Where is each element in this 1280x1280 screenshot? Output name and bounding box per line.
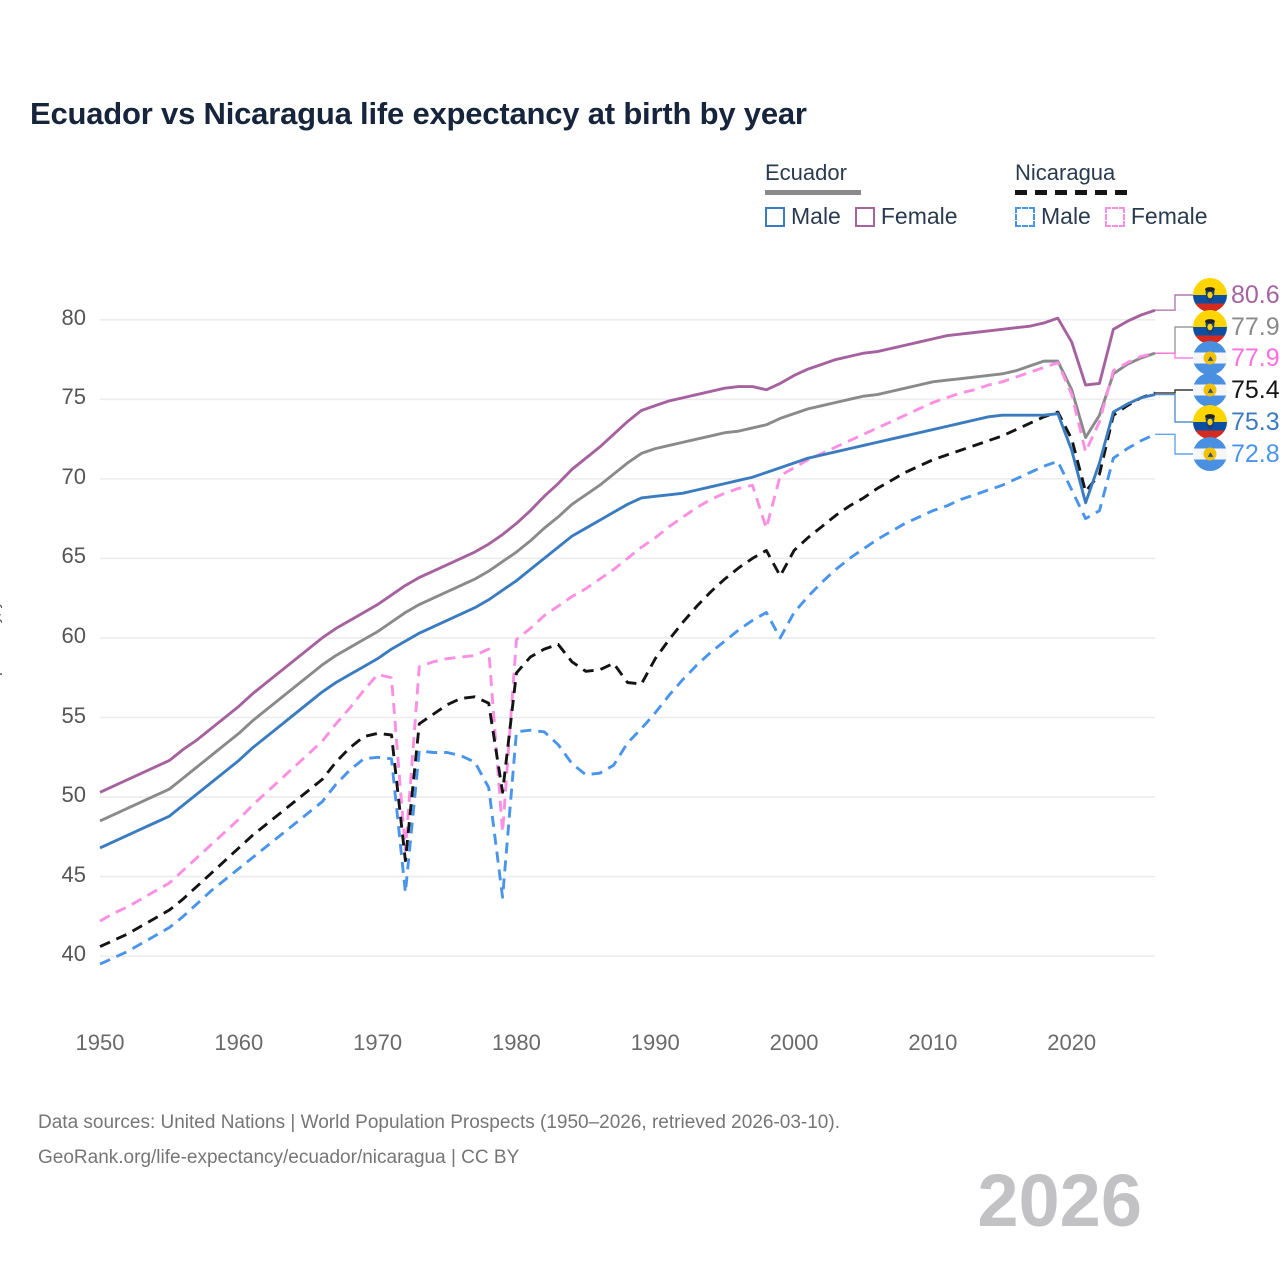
legend-item-ecuador-male[interactable]: Male xyxy=(765,203,841,230)
legend-group-ecuador: Ecuador Male Female xyxy=(765,160,958,230)
nicaragua-flag-icon xyxy=(1193,437,1227,471)
y-axis-tick-label: 65 xyxy=(26,543,86,569)
end-value-label: 80.6 xyxy=(1193,278,1280,312)
coat-of-arms-icon xyxy=(1203,414,1218,431)
end-value-label: 72.8 xyxy=(1193,437,1280,471)
y-axis-tick-label: 40 xyxy=(26,941,86,967)
x-axis-tick-label: 2020 xyxy=(1027,1030,1117,1056)
legend-item-label: Male xyxy=(1041,203,1091,230)
end-value-text: 80.6 xyxy=(1231,281,1280,310)
end-value-text: 72.8 xyxy=(1231,440,1280,469)
y-axis-tick-label: 55 xyxy=(26,703,86,729)
square-outline-icon xyxy=(855,207,875,227)
legend-item-label: Female xyxy=(881,203,958,230)
footer-line-attribution: GeoRank.org/life-expectancy/ecuador/nica… xyxy=(38,1140,840,1175)
legend-item-label: Female xyxy=(1131,203,1208,230)
chart-svg xyxy=(0,250,1280,1050)
series-line xyxy=(100,393,1155,947)
square-outline-icon xyxy=(765,207,785,227)
leader-lines xyxy=(1155,295,1193,454)
x-axis-tick-label: 1950 xyxy=(55,1030,145,1056)
ecuador-flag-icon xyxy=(1193,405,1227,439)
end-value-label: 75.3 xyxy=(1193,405,1280,439)
legend-item-ecuador-female[interactable]: Female xyxy=(855,203,958,230)
end-value-text: 77.9 xyxy=(1231,313,1280,342)
y-axis-tick-label: 50 xyxy=(26,782,86,808)
coat-of-arms-icon xyxy=(1204,352,1217,365)
end-value-label: 77.9 xyxy=(1193,310,1280,344)
x-axis-tick-label: 2000 xyxy=(749,1030,839,1056)
series-line xyxy=(100,310,1155,792)
x-axis-tick-label: 1990 xyxy=(610,1030,700,1056)
plot-area: Life expectancy, years 40455055606570758… xyxy=(0,250,1280,1050)
x-axis-tick-label: 1960 xyxy=(194,1030,284,1056)
x-axis-tick-label: 1980 xyxy=(471,1030,561,1056)
y-axis-tick-label: 45 xyxy=(26,862,86,888)
legend-rule-dashed xyxy=(1015,190,1133,195)
leader-line xyxy=(1155,395,1193,422)
footer-line-sources: Data sources: United Nations | World Pop… xyxy=(38,1105,840,1140)
legend-item-nicaragua-female[interactable]: Female xyxy=(1105,203,1208,230)
series-line xyxy=(100,434,1155,964)
end-value-label: 75.4 xyxy=(1193,373,1280,407)
y-axis-tick-label: 60 xyxy=(26,623,86,649)
end-value-text: 75.3 xyxy=(1231,408,1280,437)
legend-country-label: Ecuador xyxy=(765,160,958,188)
leader-line xyxy=(1155,353,1193,358)
coat-of-arms-icon xyxy=(1204,384,1217,397)
coat-of-arms-icon xyxy=(1204,448,1217,461)
square-dashed-outline-icon xyxy=(1105,207,1125,227)
square-dashed-outline-icon xyxy=(1015,207,1035,227)
leader-line xyxy=(1155,390,1193,393)
nicaragua-flag-icon xyxy=(1193,341,1227,375)
legend-rule-solid xyxy=(765,190,861,195)
leader-line xyxy=(1155,434,1193,454)
footer: Data sources: United Nations | World Pop… xyxy=(38,1105,840,1175)
legend: Ecuador Male Female Nicaragua Male xyxy=(760,160,1260,240)
coat-of-arms-icon xyxy=(1203,287,1218,304)
y-axis-tick-label: 70 xyxy=(26,464,86,490)
leader-line xyxy=(1155,327,1193,353)
end-value-text: 75.4 xyxy=(1231,376,1280,405)
legend-item-label: Male xyxy=(791,203,841,230)
x-axis-tick-label: 2010 xyxy=(888,1030,978,1056)
end-value-text: 77.9 xyxy=(1231,344,1280,373)
year-watermark: 2026 xyxy=(977,1158,1142,1243)
y-axis-tick-label: 75 xyxy=(26,384,86,410)
x-axis-tick-label: 1970 xyxy=(333,1030,423,1056)
chart-page: Ecuador vs Nicaragua life expectancy at … xyxy=(0,0,1280,1280)
legend-group-nicaragua: Nicaragua Male Female xyxy=(1015,160,1208,230)
legend-item-nicaragua-male[interactable]: Male xyxy=(1015,203,1091,230)
leader-line xyxy=(1155,295,1193,310)
end-value-label: 77.9 xyxy=(1193,341,1280,375)
y-axis-tick-label: 80 xyxy=(26,305,86,331)
legend-country-label: Nicaragua xyxy=(1015,160,1208,188)
nicaragua-flag-icon xyxy=(1193,373,1227,407)
coat-of-arms-icon xyxy=(1203,319,1218,336)
ecuador-flag-icon xyxy=(1193,278,1227,312)
ecuador-flag-icon xyxy=(1193,310,1227,344)
page-title: Ecuador vs Nicaragua life expectancy at … xyxy=(30,96,807,132)
